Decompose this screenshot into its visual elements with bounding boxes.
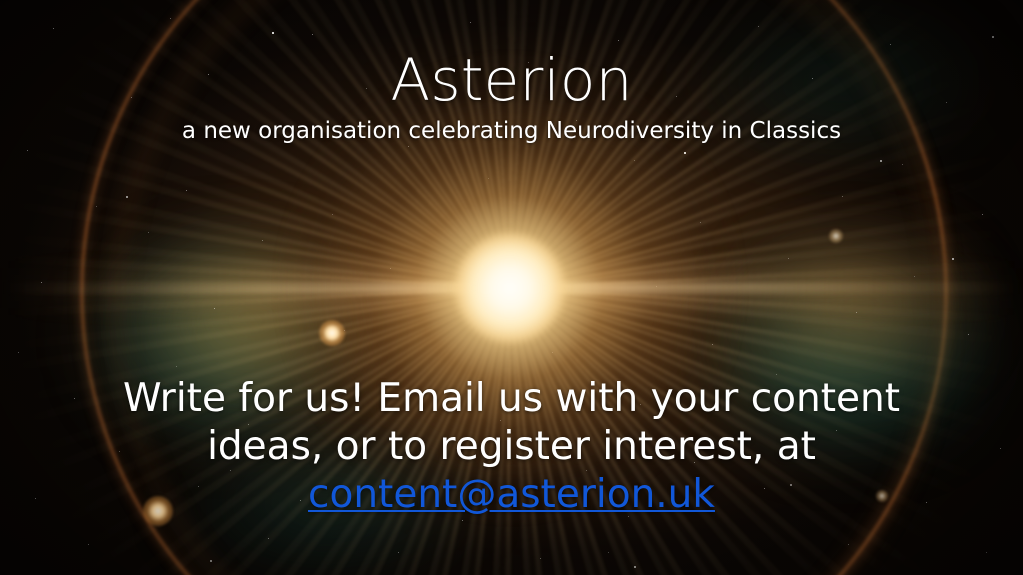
slide-title: Asterion <box>0 50 1023 111</box>
call-to-action-text: Write for us! Email us with your content… <box>120 375 903 519</box>
slide-subtitle: a new organisation celebrating Neurodive… <box>0 118 1023 146</box>
cta-line-2: ideas, or to register interest, at <box>207 424 816 469</box>
email-link[interactable]: content@asterion.uk <box>308 472 715 517</box>
slide-content: Asterion a new organisation celebrating … <box>0 0 1023 575</box>
presentation-slide: Asterion a new organisation celebrating … <box>0 0 1023 575</box>
cta-line-1: Write for us! Email us with your content <box>123 376 900 421</box>
